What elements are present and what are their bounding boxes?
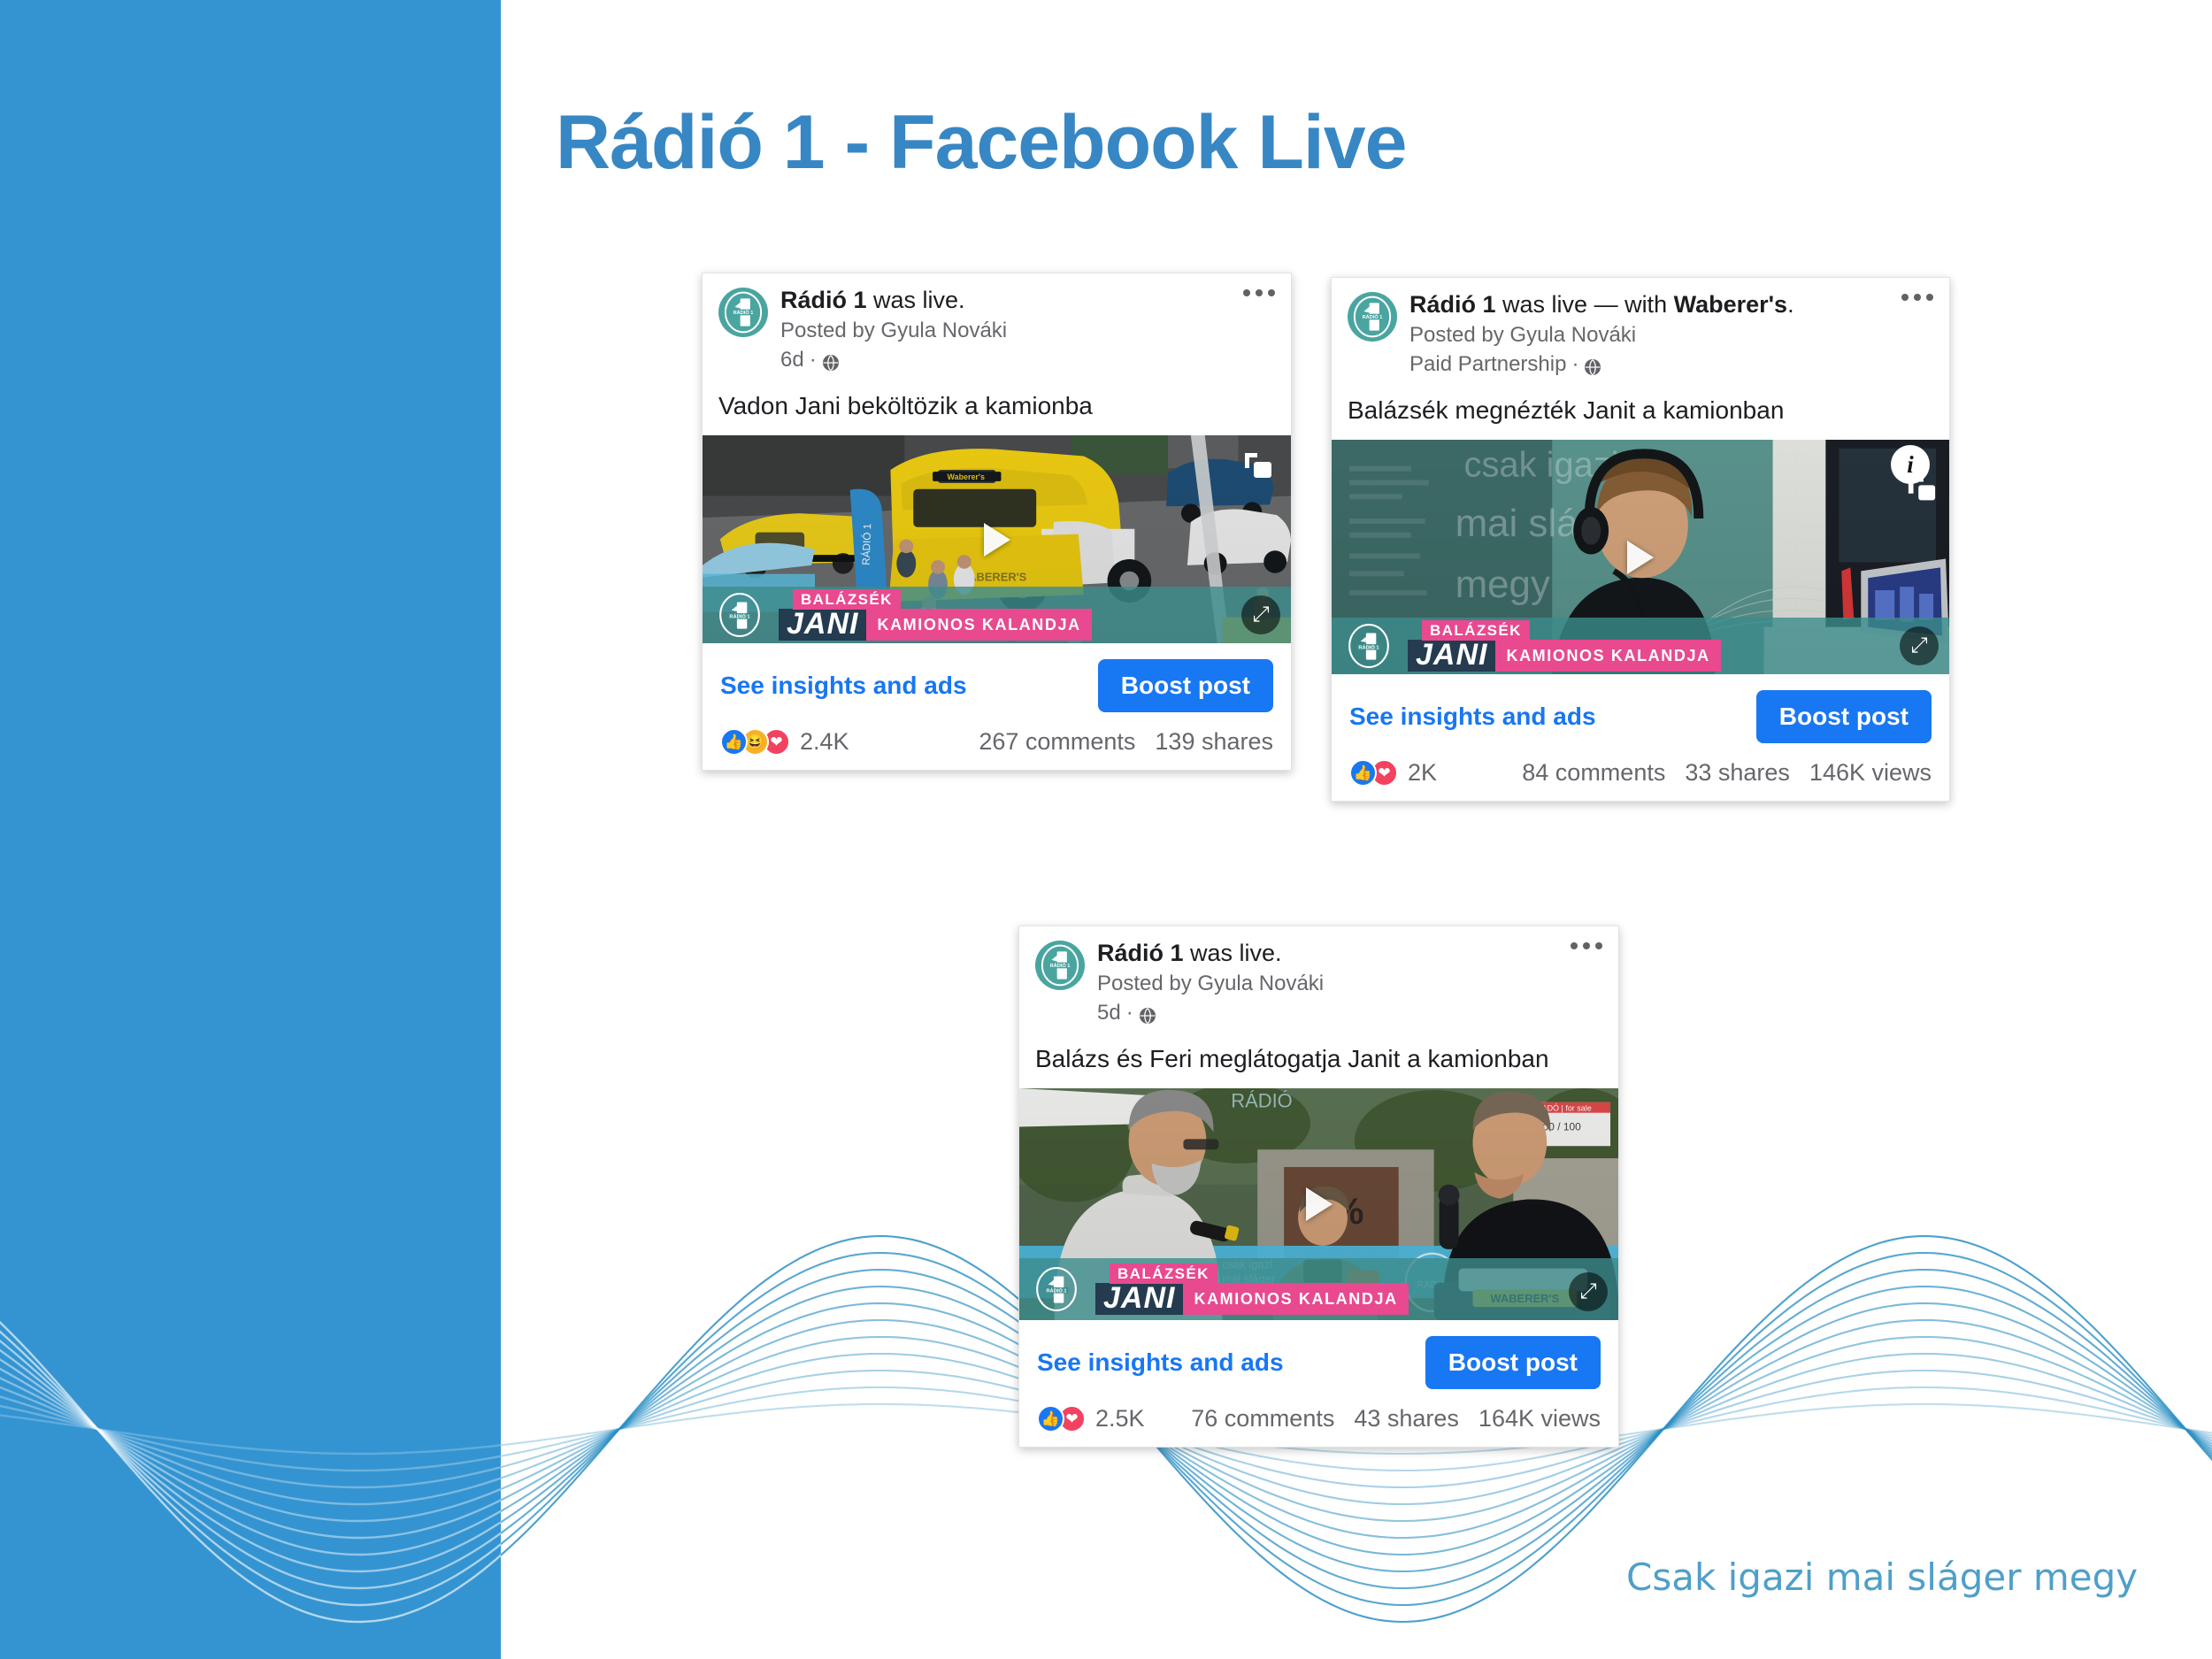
video-lower-third-banner: RÁDIÓ 1 BALÁZSÉK JANI KAMIONOS KALANDJA [1019, 1258, 1618, 1320]
play-icon[interactable] [1627, 541, 1654, 574]
info-icon[interactable]: i [1891, 445, 1930, 484]
banner-kicker: BALÁZSÉK [1110, 1263, 1217, 1284]
post-stats: 👍 😆 ❤ 2.4K 267 comments 139 shares [703, 721, 1291, 770]
post-options-ellipsis-icon[interactable] [1243, 289, 1275, 296]
banner-subtitle: KAMIONOS KALANDJA [1495, 640, 1720, 672]
globe-icon [1139, 1004, 1156, 1022]
video-lower-third-banner: RÁDIÓ 1 BALÁZSÉK JANI KAMIONOS KALANDJA [1332, 618, 1949, 674]
play-icon[interactable] [984, 523, 1010, 557]
reaction-count: 2K [1408, 759, 1437, 787]
avatar[interactable]: RÁDIÓ 1 [1348, 292, 1397, 342]
post-meta: Paid Partnership · [1409, 350, 1933, 379]
banner-subtitle: KAMIONOS KALANDJA [1183, 1283, 1408, 1315]
facebook-post-card[interactable]: RÁDIÓ 1 Rádió 1 was live. Posted by Gyul… [702, 273, 1292, 771]
post-message: Balázs és Feri meglátogatja Janit a kami… [1019, 1031, 1618, 1088]
post-options-ellipsis-icon[interactable] [1901, 294, 1933, 301]
facebook-post-card[interactable]: RÁDIÓ 1 Rádió 1 was live — with Waberer'… [1331, 277, 1950, 802]
post-actions: See insights and ads Boost post [1332, 674, 1949, 752]
page-title: Rádió 1 - Facebook Live [556, 99, 1406, 187]
page-name[interactable]: Rádió 1 [780, 287, 867, 313]
reaction-icons: 👍 😆 ❤ [720, 728, 784, 756]
headline-rest: was live. [867, 287, 965, 313]
play-icon[interactable] [1306, 1187, 1333, 1221]
expand-icon[interactable]: ⤢ [1900, 626, 1939, 665]
brand-tagline: Csak igazi mai sláger megy [1626, 1555, 2138, 1599]
expand-icon[interactable]: ⤢ [1241, 595, 1280, 634]
banner-subtitle: KAMIONOS KALANDJA [866, 609, 1091, 641]
view-count: 146K views [1809, 759, 1932, 787]
banner-name: JANI [1095, 1283, 1183, 1315]
facebook-post-card[interactable]: RÁDIÓ 1 Rádió 1 was live. Posted by Gyul… [1018, 926, 1619, 1448]
post-time: 5d [1097, 999, 1121, 1027]
banner-kicker: BALÁZSÉK [793, 589, 901, 610]
boost-post-button[interactable]: Boost post [1425, 1336, 1601, 1389]
globe-icon [1584, 356, 1601, 373]
post-actions: See insights and ads Boost post [1019, 1320, 1618, 1398]
post-options-ellipsis-icon[interactable] [1571, 942, 1602, 949]
see-insights-link[interactable]: See insights and ads [1037, 1348, 1284, 1377]
comment-count[interactable]: 76 comments [1191, 1405, 1334, 1432]
reaction-count: 2.5K [1095, 1405, 1145, 1432]
picture-in-picture-icon[interactable] [1241, 449, 1275, 483]
post-message: Balázsék megnézték Janit a kamionban [1332, 382, 1949, 440]
radio1-badge-logo: RÁDIÓ 1 [717, 592, 763, 638]
share-count[interactable]: 139 shares [1155, 728, 1273, 756]
post-header: RÁDIÓ 1 Rádió 1 was live. Posted by Gyul… [703, 273, 1291, 378]
see-insights-link[interactable]: See insights and ads [720, 672, 967, 700]
banner-name: JANI [779, 609, 866, 641]
share-count[interactable]: 43 shares [1354, 1405, 1459, 1432]
view-count: 164K views [1479, 1405, 1601, 1432]
post-headline: Rádió 1 was live — with Waberer's. [1409, 290, 1933, 319]
boost-post-button[interactable]: Boost post [1756, 690, 1932, 743]
globe-icon [822, 351, 840, 369]
paid-partnership-label: Paid Partnership [1409, 350, 1566, 379]
post-time: 6d [780, 346, 804, 374]
post-headline: Rádió 1 was live. [1097, 939, 1602, 967]
avatar[interactable]: RÁDIÓ 1 [718, 288, 768, 337]
radio1-badge-logo: RÁDIÓ 1 [1033, 1266, 1079, 1312]
post-header: RÁDIÓ 1 Rádió 1 was live — with Waberer'… [1332, 278, 1949, 382]
post-stats: 👍 ❤ 2.5K 76 comments 43 shares 164K view… [1019, 1398, 1618, 1447]
partner-name[interactable]: Waberer's [1674, 291, 1787, 318]
reaction-icons: 👍 ❤ [1349, 759, 1392, 787]
posted-by: Posted by Gyula Nováki [1097, 970, 1602, 998]
post-header: RÁDIÓ 1 Rádió 1 was live. Posted by Gyul… [1019, 926, 1618, 1031]
post-video-thumbnail[interactable]: csak igazi mai sláger megy [1332, 440, 1949, 674]
comment-count[interactable]: 267 comments [979, 728, 1135, 756]
headline-rest: was live. [1184, 940, 1282, 966]
avatar[interactable]: RÁDIÓ 1 [1035, 941, 1085, 990]
post-message: Vadon Jani beköltözik a kamionba [703, 378, 1291, 435]
post-meta: 5d · [1097, 999, 1602, 1027]
post-stats: 👍 ❤ 2K 84 comments 33 shares 146K views [1332, 752, 1949, 801]
radio1-badge-logo: RÁDIÓ 1 [1346, 623, 1392, 669]
posted-by: Posted by Gyula Nováki [780, 317, 1275, 345]
posted-by: Posted by Gyula Nováki [1409, 321, 1933, 349]
banner-kicker: BALÁZSÉK [1422, 620, 1530, 641]
headline-rest: was live — with [1496, 291, 1674, 318]
like-reaction-icon: 👍 [720, 728, 748, 756]
like-reaction-icon: 👍 [1037, 1405, 1064, 1432]
page-name[interactable]: Rádió 1 [1097, 940, 1184, 966]
video-lower-third-banner: RÁDIÓ 1 BALÁZSÉK JANI KAMIONOS KALANDJA [703, 587, 1291, 643]
reaction-count: 2.4K [800, 728, 849, 756]
banner-name: JANI [1408, 640, 1495, 672]
post-video-thumbnail[interactable]: RÁDIÓ 1 Waberer's WABERER'S [703, 435, 1291, 643]
boost-post-button[interactable]: Boost post [1098, 659, 1273, 712]
left-brand-panel [0, 0, 501, 1659]
post-video-thumbnail[interactable]: 8% csak igazi mai sláger megy RÁDIÓ RÁDI… [1019, 1088, 1618, 1320]
post-headline: Rádió 1 was live. [780, 286, 1275, 314]
expand-icon[interactable]: ⤢ [1569, 1272, 1608, 1311]
page-name[interactable]: Rádió 1 [1409, 291, 1496, 318]
reaction-icons: 👍 ❤ [1037, 1405, 1079, 1432]
share-count[interactable]: 33 shares [1685, 759, 1790, 787]
post-meta: 6d · [780, 346, 1275, 374]
post-actions: See insights and ads Boost post [703, 643, 1291, 721]
like-reaction-icon: 👍 [1349, 759, 1377, 787]
comment-count[interactable]: 84 comments [1522, 759, 1665, 787]
see-insights-link[interactable]: See insights and ads [1349, 703, 1596, 731]
